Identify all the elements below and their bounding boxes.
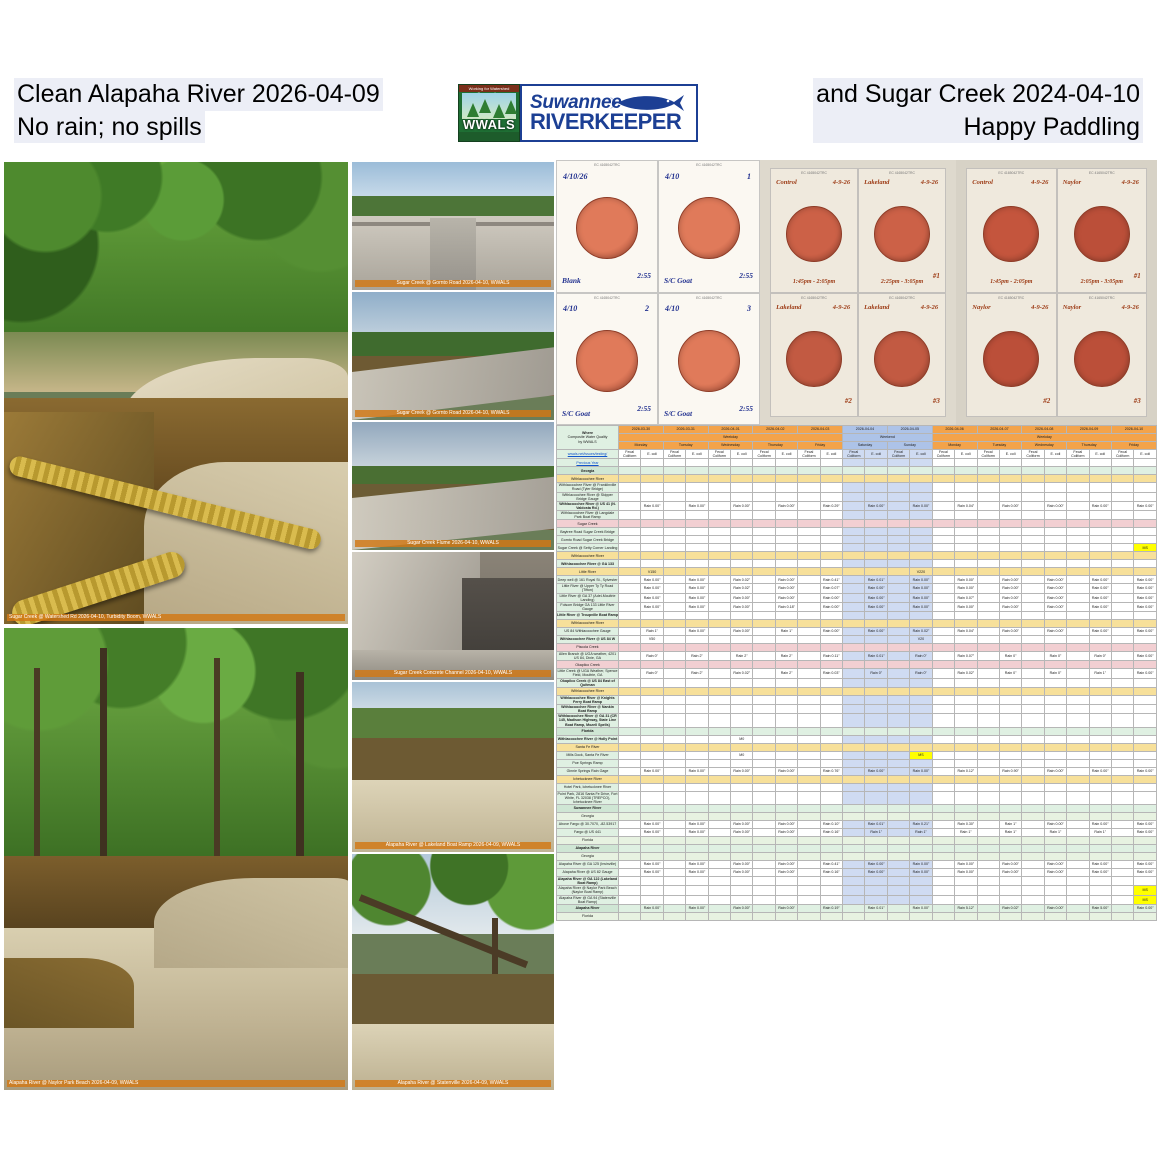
- data-cell[interactable]: [753, 636, 775, 644]
- data-cell[interactable]: [932, 886, 954, 895]
- photo-creek-boom[interactable]: Sugar Creek @ Watershed Rd 2026-04-10, T…: [4, 162, 348, 624]
- data-cell[interactable]: [999, 536, 1021, 544]
- data-cell[interactable]: [955, 544, 977, 552]
- data-cell[interactable]: [731, 552, 753, 560]
- data-cell[interactable]: [843, 511, 865, 520]
- data-cell[interactable]: [977, 775, 999, 783]
- data-cell[interactable]: [753, 475, 775, 483]
- data-cell[interactable]: [753, 775, 775, 783]
- data-cell[interactable]: [663, 886, 685, 895]
- data-cell[interactable]: [798, 845, 820, 853]
- data-cell[interactable]: [1111, 821, 1133, 829]
- data-cell[interactable]: [708, 877, 730, 886]
- data-cell[interactable]: [731, 612, 753, 620]
- data-cell[interactable]: [798, 644, 820, 652]
- data-cell[interactable]: [820, 759, 842, 767]
- data-cell[interactable]: Rain 0": [1044, 652, 1066, 661]
- data-cell[interactable]: [955, 528, 977, 536]
- data-cell[interactable]: [708, 483, 730, 492]
- table-row[interactable]: Sugar Creek: [557, 520, 1157, 528]
- data-cell[interactable]: [999, 751, 1021, 759]
- data-cell[interactable]: [843, 678, 865, 687]
- data-cell[interactable]: [663, 652, 685, 661]
- data-cell[interactable]: Rain 0.00": [775, 501, 797, 510]
- data-cell[interactable]: Rain 0.00": [1134, 652, 1157, 661]
- data-cell[interactable]: [731, 705, 753, 714]
- data-cell[interactable]: [1067, 687, 1089, 695]
- data-cell[interactable]: [865, 620, 887, 628]
- data-cell[interactable]: [1044, 775, 1066, 783]
- data-cell[interactable]: [775, 759, 797, 767]
- table-row[interactable]: Little Creek @ UGA Weather, Spence Field…: [557, 669, 1157, 678]
- data-cell[interactable]: [641, 735, 663, 743]
- data-cell[interactable]: [865, 678, 887, 687]
- data-cell[interactable]: [999, 528, 1021, 536]
- data-cell[interactable]: [1044, 791, 1066, 804]
- data-cell[interactable]: [955, 492, 977, 501]
- data-cell[interactable]: [753, 501, 775, 510]
- data-cell[interactable]: [1134, 511, 1157, 520]
- data-cell[interactable]: [1067, 593, 1089, 602]
- data-cell[interactable]: [887, 612, 909, 620]
- data-cell[interactable]: [887, 492, 909, 501]
- data-cell[interactable]: [663, 661, 685, 669]
- data-cell[interactable]: Rain 0.00": [1134, 767, 1157, 775]
- data-cell[interactable]: [641, 560, 663, 568]
- data-cell[interactable]: [865, 791, 887, 804]
- data-cell[interactable]: Rain 0.00": [1134, 821, 1157, 829]
- data-cell[interactable]: [753, 821, 775, 829]
- data-cell[interactable]: [1067, 821, 1089, 829]
- data-cell[interactable]: [910, 644, 932, 652]
- data-cell[interactable]: [1044, 636, 1066, 644]
- data-cell[interactable]: [910, 912, 932, 920]
- data-cell[interactable]: [977, 751, 999, 759]
- data-cell[interactable]: Rain 0.00": [1089, 628, 1111, 636]
- data-cell[interactable]: [977, 568, 999, 576]
- data-cell[interactable]: [619, 751, 641, 759]
- data-cell[interactable]: [887, 483, 909, 492]
- data-cell[interactable]: [977, 791, 999, 804]
- data-cell[interactable]: [843, 628, 865, 636]
- data-cell[interactable]: Rain 1": [865, 829, 887, 837]
- data-cell[interactable]: [1022, 912, 1044, 920]
- data-cell[interactable]: [753, 560, 775, 568]
- data-cell[interactable]: [708, 528, 730, 536]
- data-cell[interactable]: [1067, 620, 1089, 628]
- data-cell[interactable]: [843, 568, 865, 576]
- data-cell[interactable]: [955, 644, 977, 652]
- data-cell[interactable]: [1089, 714, 1111, 727]
- data-cell[interactable]: [641, 620, 663, 628]
- data-cell[interactable]: Rain 0.07": [955, 652, 977, 661]
- data-cell[interactable]: [887, 912, 909, 920]
- data-cell[interactable]: Rain 0.00": [1044, 821, 1066, 829]
- data-cell[interactable]: [1067, 743, 1089, 751]
- data-cell[interactable]: [1067, 661, 1089, 669]
- data-cell[interactable]: [686, 743, 708, 751]
- data-cell[interactable]: [663, 735, 685, 743]
- data-cell[interactable]: [775, 783, 797, 791]
- data-cell[interactable]: [731, 727, 753, 735]
- data-cell[interactable]: [1089, 759, 1111, 767]
- data-cell[interactable]: Rain 0.00": [999, 602, 1021, 611]
- data-cell[interactable]: Rain 0.00": [775, 593, 797, 602]
- data-cell[interactable]: [1134, 837, 1157, 845]
- photo-leaning-tree[interactable]: Alapaha River @ Statenville 2026-04-09, …: [352, 854, 554, 1090]
- data-cell[interactable]: [932, 501, 954, 510]
- data-cell[interactable]: [753, 544, 775, 552]
- data-cell[interactable]: [843, 829, 865, 837]
- data-cell[interactable]: [798, 877, 820, 886]
- data-cell[interactable]: [731, 813, 753, 821]
- data-cell[interactable]: [865, 727, 887, 735]
- data-cell[interactable]: [843, 467, 865, 475]
- data-cell[interactable]: [641, 520, 663, 528]
- data-cell[interactable]: [932, 829, 954, 837]
- data-cell[interactable]: [1111, 727, 1133, 735]
- data-cell[interactable]: [753, 759, 775, 767]
- data-cell[interactable]: [887, 821, 909, 829]
- data-cell[interactable]: [843, 767, 865, 775]
- data-cell[interactable]: [1022, 602, 1044, 611]
- data-cell[interactable]: [977, 584, 999, 593]
- data-cell[interactable]: [798, 669, 820, 678]
- data-cell[interactable]: [1022, 813, 1044, 821]
- data-cell[interactable]: [887, 636, 909, 644]
- data-cell[interactable]: [663, 501, 685, 510]
- data-cell[interactable]: [1111, 492, 1133, 501]
- data-cell[interactable]: [999, 805, 1021, 813]
- data-cell[interactable]: [887, 669, 909, 678]
- data-cell[interactable]: [999, 467, 1021, 475]
- data-cell[interactable]: [753, 895, 775, 904]
- data-cell[interactable]: [619, 861, 641, 869]
- data-cell[interactable]: [1022, 568, 1044, 576]
- data-cell[interactable]: Rain 0.00": [910, 602, 932, 611]
- table-row[interactable]: Alapaha River: [557, 845, 1157, 853]
- data-cell[interactable]: [1134, 735, 1157, 743]
- data-cell[interactable]: [955, 727, 977, 735]
- data-cell[interactable]: [775, 735, 797, 743]
- data-cell[interactable]: Rain 0.76": [820, 767, 842, 775]
- data-cell[interactable]: Rain 0.00": [1089, 821, 1111, 829]
- data-cell[interactable]: [932, 714, 954, 727]
- data-cell[interactable]: [798, 536, 820, 544]
- data-cell[interactable]: Rain 0.00": [1089, 602, 1111, 611]
- data-cell[interactable]: [1134, 845, 1157, 853]
- data-cell[interactable]: [932, 705, 954, 714]
- data-cell[interactable]: [1089, 743, 1111, 751]
- data-cell[interactable]: [865, 912, 887, 920]
- data-cell[interactable]: [798, 661, 820, 669]
- data-cell[interactable]: [887, 783, 909, 791]
- data-cell[interactable]: Rain 2": [686, 652, 708, 661]
- data-cell[interactable]: [686, 483, 708, 492]
- data-cell[interactable]: [932, 576, 954, 584]
- data-cell[interactable]: [1111, 775, 1133, 783]
- data-cell[interactable]: [820, 636, 842, 644]
- data-cell[interactable]: Rain 0.00": [686, 602, 708, 611]
- data-cell[interactable]: [843, 735, 865, 743]
- data-cell[interactable]: [865, 568, 887, 576]
- data-cell[interactable]: [708, 612, 730, 620]
- data-cell[interactable]: [1022, 845, 1044, 853]
- data-cell[interactable]: [977, 501, 999, 510]
- data-cell[interactable]: Rain 0": [1089, 652, 1111, 661]
- data-cell[interactable]: [708, 767, 730, 775]
- data-cell[interactable]: [932, 528, 954, 536]
- data-cell[interactable]: Rain 0.00": [820, 602, 842, 611]
- data-cell[interactable]: [619, 877, 641, 886]
- data-cell[interactable]: [731, 687, 753, 695]
- data-cell[interactable]: [753, 459, 775, 467]
- data-cell[interactable]: Rain 0.00": [1044, 593, 1066, 602]
- data-cell[interactable]: [775, 695, 797, 704]
- data-cell[interactable]: [887, 904, 909, 912]
- data-cell[interactable]: [686, 895, 708, 904]
- data-cell[interactable]: Rain 0.00": [686, 767, 708, 775]
- data-cell[interactable]: [932, 644, 954, 652]
- data-cell[interactable]: [887, 727, 909, 735]
- data-cell[interactable]: [798, 459, 820, 467]
- data-cell[interactable]: [887, 501, 909, 510]
- data-cell[interactable]: [753, 783, 775, 791]
- data-cell[interactable]: MS: [1134, 544, 1157, 552]
- data-cell[interactable]: [820, 895, 842, 904]
- data-cell[interactable]: [798, 813, 820, 821]
- data-cell[interactable]: [1089, 845, 1111, 853]
- data-cell[interactable]: [619, 620, 641, 628]
- data-cell[interactable]: [1022, 661, 1044, 669]
- data-cell[interactable]: [798, 584, 820, 593]
- data-cell[interactable]: [1022, 636, 1044, 644]
- data-cell[interactable]: [1044, 687, 1066, 695]
- data-cell[interactable]: [708, 886, 730, 895]
- data-cell[interactable]: [865, 895, 887, 904]
- data-cell[interactable]: [865, 560, 887, 568]
- data-cell[interactable]: [1089, 895, 1111, 904]
- data-cell[interactable]: V50: [641, 636, 663, 644]
- data-cell[interactable]: [753, 751, 775, 759]
- data-cell[interactable]: [753, 552, 775, 560]
- data-cell[interactable]: [798, 714, 820, 727]
- data-cell[interactable]: [1022, 904, 1044, 912]
- data-cell[interactable]: [798, 829, 820, 837]
- data-cell[interactable]: [731, 805, 753, 813]
- data-cell[interactable]: [641, 544, 663, 552]
- data-cell[interactable]: [820, 528, 842, 536]
- data-cell[interactable]: [865, 853, 887, 861]
- data-cell[interactable]: [1022, 520, 1044, 528]
- data-cell[interactable]: [775, 714, 797, 727]
- data-cell[interactable]: [753, 687, 775, 695]
- data-cell[interactable]: Rain 0.12": [955, 767, 977, 775]
- data-cell[interactable]: [619, 544, 641, 552]
- data-cell[interactable]: [820, 520, 842, 528]
- data-cell[interactable]: [910, 743, 932, 751]
- data-cell[interactable]: [1067, 853, 1089, 861]
- data-cell[interactable]: [865, 775, 887, 783]
- data-cell[interactable]: [932, 767, 954, 775]
- data-cell[interactable]: [619, 636, 641, 644]
- data-cell[interactable]: [686, 791, 708, 804]
- data-cell[interactable]: [663, 552, 685, 560]
- data-cell[interactable]: [932, 620, 954, 628]
- data-cell[interactable]: V150: [641, 568, 663, 576]
- data-cell[interactable]: [977, 829, 999, 837]
- data-cell[interactable]: [686, 759, 708, 767]
- data-cell[interactable]: [731, 853, 753, 861]
- data-cell[interactable]: [932, 536, 954, 544]
- data-cell[interactable]: [820, 544, 842, 552]
- data-cell[interactable]: [1022, 620, 1044, 628]
- data-cell[interactable]: Rain 0.00": [641, 501, 663, 510]
- data-cell[interactable]: Rain 0.07": [820, 584, 842, 593]
- data-cell[interactable]: Rain 0.00": [731, 869, 753, 877]
- data-cell[interactable]: [999, 475, 1021, 483]
- data-cell[interactable]: [798, 869, 820, 877]
- data-cell[interactable]: [798, 861, 820, 869]
- table-row[interactable]: Okapilco Creek @ US 84 East of Quitman: [557, 678, 1157, 687]
- data-cell[interactable]: [775, 544, 797, 552]
- data-cell[interactable]: [1111, 767, 1133, 775]
- data-cell[interactable]: [1089, 813, 1111, 821]
- data-cell[interactable]: [843, 602, 865, 611]
- data-cell[interactable]: [1134, 528, 1157, 536]
- data-cell[interactable]: [843, 869, 865, 877]
- data-cell[interactable]: [1089, 783, 1111, 791]
- data-cell[interactable]: Rain 0.00": [641, 593, 663, 602]
- data-cell[interactable]: [1044, 475, 1066, 483]
- data-cell[interactable]: [619, 695, 641, 704]
- data-cell[interactable]: [955, 886, 977, 895]
- data-cell[interactable]: [999, 459, 1021, 467]
- data-cell[interactable]: [1111, 861, 1133, 869]
- data-cell[interactable]: [887, 568, 909, 576]
- data-cell[interactable]: Rain 0.00": [686, 821, 708, 829]
- data-cell[interactable]: [843, 821, 865, 829]
- data-cell[interactable]: Rain 0.01": [865, 821, 887, 829]
- data-cell[interactable]: [798, 467, 820, 475]
- data-cell[interactable]: [865, 705, 887, 714]
- data-cell[interactable]: [1022, 678, 1044, 687]
- data-cell[interactable]: [641, 612, 663, 620]
- data-cell[interactable]: [910, 886, 932, 895]
- data-cell[interactable]: [977, 636, 999, 644]
- data-cell[interactable]: [1111, 661, 1133, 669]
- data-cell[interactable]: [1111, 628, 1133, 636]
- data-cell[interactable]: [641, 805, 663, 813]
- data-cell[interactable]: [641, 705, 663, 714]
- data-cell[interactable]: [887, 520, 909, 528]
- data-cell[interactable]: [932, 759, 954, 767]
- data-cell[interactable]: [1022, 528, 1044, 536]
- table-row[interactable]: Florida: [557, 837, 1157, 845]
- data-cell[interactable]: [1044, 877, 1066, 886]
- data-cell[interactable]: [1134, 661, 1157, 669]
- data-cell[interactable]: [753, 845, 775, 853]
- data-cell[interactable]: [843, 483, 865, 492]
- wwals-testing-link[interactable]: wwals.net/issues/testing/: [557, 450, 619, 459]
- data-cell[interactable]: [1134, 636, 1157, 644]
- data-cell[interactable]: [708, 775, 730, 783]
- data-cell[interactable]: [1067, 520, 1089, 528]
- table-row[interactable]: Alapaha River @ GA 125 (Irwinville)Rain …: [557, 861, 1157, 869]
- data-cell[interactable]: [663, 536, 685, 544]
- data-cell[interactable]: [1111, 743, 1133, 751]
- data-cell[interactable]: [977, 767, 999, 775]
- data-cell[interactable]: [1022, 829, 1044, 837]
- data-cell[interactable]: [1111, 751, 1133, 759]
- data-cell[interactable]: [1067, 652, 1089, 661]
- data-cell[interactable]: [663, 783, 685, 791]
- data-cell[interactable]: Rain 0.00": [641, 861, 663, 869]
- data-cell[interactable]: [887, 869, 909, 877]
- data-cell[interactable]: [932, 687, 954, 695]
- data-cell[interactable]: [798, 783, 820, 791]
- data-cell[interactable]: Rain 1": [775, 628, 797, 636]
- data-cell[interactable]: [843, 669, 865, 678]
- data-cell[interactable]: [663, 678, 685, 687]
- data-cell[interactable]: Rain 2": [775, 669, 797, 678]
- data-cell[interactable]: [865, 552, 887, 560]
- data-cell[interactable]: [798, 492, 820, 501]
- data-cell[interactable]: [820, 568, 842, 576]
- data-cell[interactable]: [619, 869, 641, 877]
- data-cell[interactable]: [932, 845, 954, 853]
- data-cell[interactable]: Rain 0": [641, 669, 663, 678]
- data-cell[interactable]: [1111, 576, 1133, 584]
- data-cell[interactable]: [910, 492, 932, 501]
- data-cell[interactable]: [619, 783, 641, 791]
- data-cell[interactable]: [910, 695, 932, 704]
- data-cell[interactable]: [753, 727, 775, 735]
- data-cell[interactable]: [1067, 628, 1089, 636]
- data-cell[interactable]: [1111, 593, 1133, 602]
- data-cell[interactable]: [753, 678, 775, 687]
- data-cell[interactable]: Rain 1": [1089, 669, 1111, 678]
- data-cell[interactable]: [753, 669, 775, 678]
- data-cell[interactable]: [1111, 759, 1133, 767]
- data-cell[interactable]: [1111, 869, 1133, 877]
- data-cell[interactable]: [708, 751, 730, 759]
- data-cell[interactable]: [663, 727, 685, 735]
- data-cell[interactable]: [1089, 636, 1111, 644]
- data-cell[interactable]: [753, 652, 775, 661]
- data-cell[interactable]: Rain 0.00": [641, 829, 663, 837]
- data-cell[interactable]: [619, 459, 641, 467]
- data-cell[interactable]: [820, 459, 842, 467]
- data-cell[interactable]: Rain 0.00": [1089, 576, 1111, 584]
- data-cell[interactable]: [663, 475, 685, 483]
- data-cell[interactable]: [977, 759, 999, 767]
- data-cell[interactable]: Rain 0.00": [1089, 767, 1111, 775]
- data-cell[interactable]: [663, 459, 685, 467]
- data-cell[interactable]: [619, 687, 641, 695]
- data-cell[interactable]: [641, 475, 663, 483]
- data-cell[interactable]: [641, 877, 663, 886]
- data-cell[interactable]: [1134, 552, 1157, 560]
- table-row[interactable]: Withlacoochee River: [557, 687, 1157, 695]
- data-cell[interactable]: [1134, 459, 1157, 467]
- data-cell[interactable]: [1044, 853, 1066, 861]
- data-cell[interactable]: [932, 912, 954, 920]
- data-cell[interactable]: [1067, 536, 1089, 544]
- data-cell[interactable]: [686, 636, 708, 644]
- data-cell[interactable]: [663, 705, 685, 714]
- data-cell[interactable]: MS: [910, 751, 932, 759]
